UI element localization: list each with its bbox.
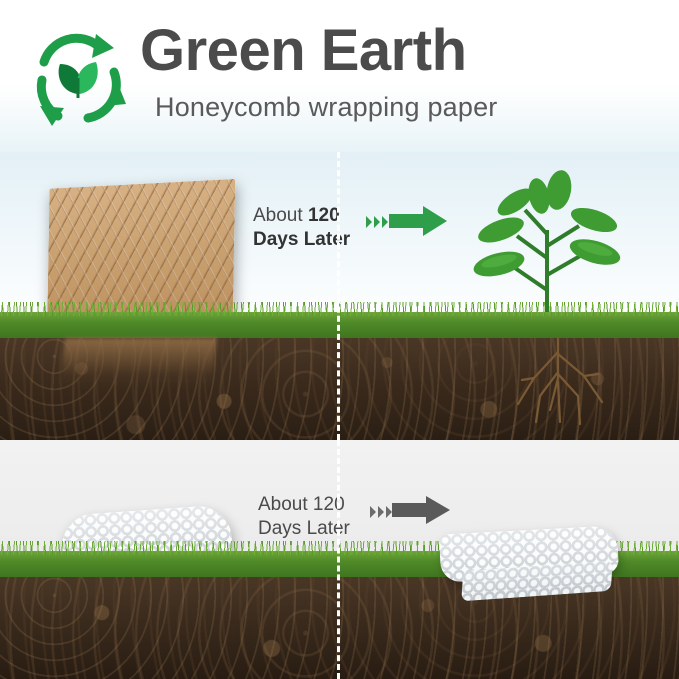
bottom-arrow-icon xyxy=(392,495,450,525)
brand-title: Green Earth xyxy=(140,22,467,80)
brand-subtitle: Honeycomb wrapping paper xyxy=(155,92,498,123)
top-label-days: 120 xyxy=(308,205,340,226)
plant-roots xyxy=(500,338,620,430)
dashed-divider-top xyxy=(337,152,340,440)
dashed-divider-bottom xyxy=(337,440,340,679)
decomposing-paper-residue xyxy=(59,338,216,390)
header-band: Green Earth Honeycomb wrapping paper xyxy=(0,0,679,152)
bottom-label-line1: About 120 xyxy=(258,494,345,515)
recycle-leaf-logo xyxy=(26,28,130,132)
top-label-prefix: About xyxy=(253,205,308,226)
bottom-chevrons-icon xyxy=(370,504,394,520)
top-arrow-label: About 120 Days Later xyxy=(253,204,350,252)
top-chevrons-icon xyxy=(366,214,390,230)
top-arrow-icon xyxy=(389,205,447,237)
top-label-suffix: Days Later xyxy=(253,229,350,250)
product-infographic-poster: Green Earth Honeycomb wrapping paper xyxy=(0,0,679,679)
